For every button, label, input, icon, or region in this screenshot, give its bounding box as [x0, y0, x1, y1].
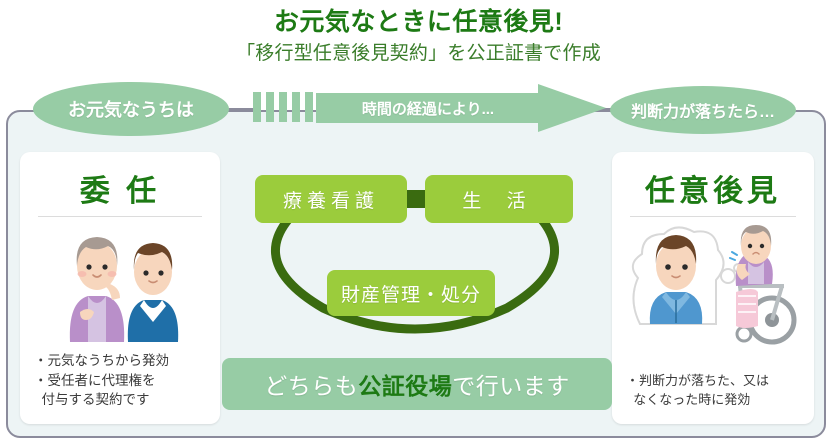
life-box: 生 活: [425, 175, 573, 223]
entrustment-notes: ・元気なうちから発効 ・受任者に代理権を 付与する契約です: [34, 351, 212, 410]
note-line: なくなった時に発効: [626, 391, 806, 410]
note-line: ・受任者に代理権を: [34, 371, 212, 391]
arrow-head-icon: [538, 84, 606, 132]
guardianship-card-title: 任意後見: [612, 166, 814, 210]
divider: [630, 216, 796, 217]
care-box: 療養看護: [255, 175, 407, 223]
divider: [38, 216, 202, 217]
entrustment-card-title: 委 任: [20, 166, 220, 210]
elderly-woman-and-man-illustration: [44, 226, 196, 344]
arrow-label: 時間の経過により...: [316, 93, 540, 123]
page-subtitle: 「移行型任意後見契約」を公正証書で作成: [0, 38, 837, 65]
timeline-stripes-icon: [253, 92, 315, 122]
note-line: ・判断力が落ちた、又は: [626, 372, 806, 391]
note-line: ・元気なうちから発効: [34, 351, 212, 371]
wheelchair-icon: [730, 225, 794, 342]
guardianship-card: 任意後見: [612, 152, 814, 424]
banner-emphasis: 公証役場: [358, 367, 452, 401]
thought-bubble-icon: [633, 227, 742, 324]
page-title: お元気なときに任意後見!: [0, 2, 837, 38]
entrustment-card: 委 任: [20, 152, 220, 424]
timeline-start-badge: お元気なうちは: [33, 82, 229, 136]
guardianship-notes: ・判断力が落ちた、又は なくなった時に発効: [626, 372, 806, 410]
timeline-end-badge: 判断力が落ちたら…: [610, 86, 796, 134]
note-line: 付与する契約です: [34, 390, 212, 410]
man-thought-bubble-and-elderly-woman-in-wheelchair-illustration: [620, 224, 806, 348]
banner-prefix: どちらも: [264, 367, 358, 401]
box-connector: [405, 190, 427, 208]
time-progress-arrow: 時間の経過により...: [316, 84, 606, 132]
banner-suffix: で行います: [452, 367, 570, 401]
infographic-root: お元気なときに任意後見! 「移行型任意後見契約」を公正証書で作成 時間の経過によ…: [0, 0, 837, 447]
asset-management-box: 財産管理・処分: [327, 270, 495, 316]
notary-office-banner: どちらも公証役場で行います: [222, 358, 612, 410]
